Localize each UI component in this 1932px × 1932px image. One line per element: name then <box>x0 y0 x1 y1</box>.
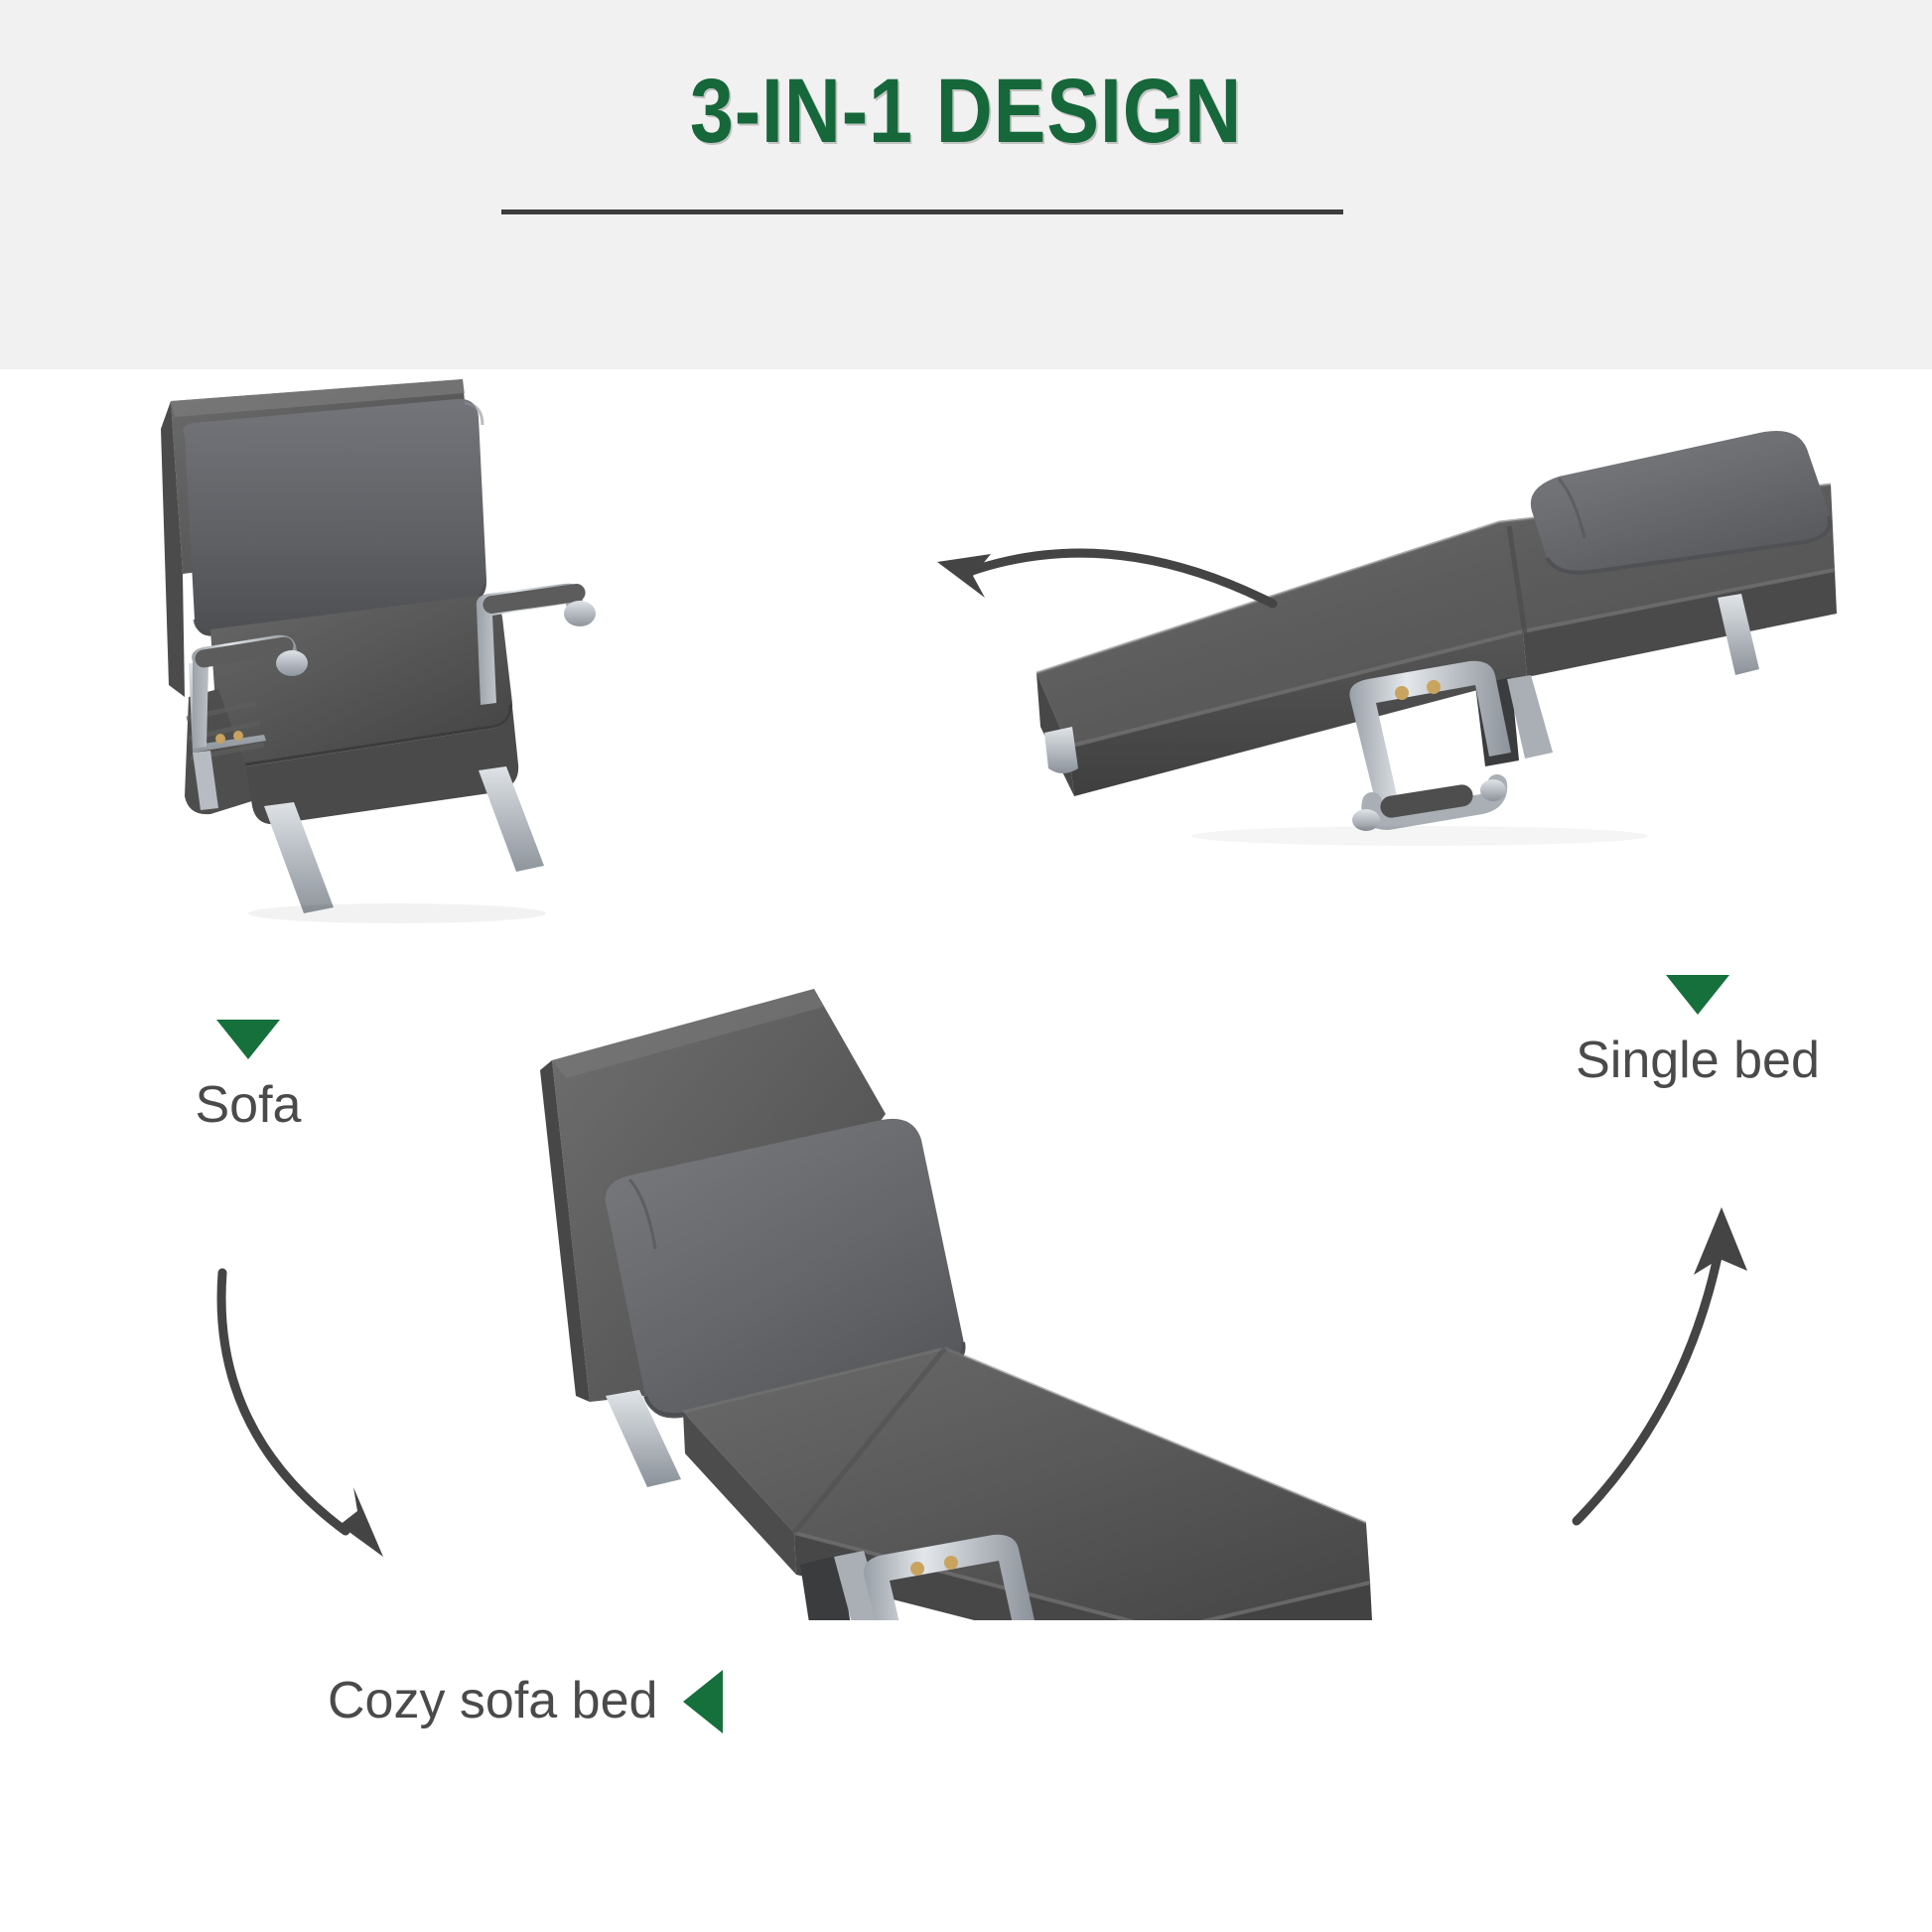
label-cozy-sofa-bed: Cozy sofa bed <box>328 1670 723 1733</box>
label-sofa: Sofa <box>99 1020 397 1134</box>
triangle-left-icon <box>683 1670 723 1733</box>
title-divider <box>501 209 1343 214</box>
illustration-stage: Sofa Single bed Cozy sofa bed <box>0 369 1932 1932</box>
bed-leg-front-left <box>1044 727 1078 773</box>
cozy-sofa-bed-svg <box>496 975 1390 1620</box>
sofa-leg-right <box>479 766 544 872</box>
sofa-chair-svg <box>149 369 705 925</box>
sofa-arm-right-cap <box>564 601 596 626</box>
sofa-chair-photo <box>149 369 705 925</box>
sofa-arm-left-cap <box>276 650 308 676</box>
page-title: 3-IN-1 DESIGN <box>135 60 1797 164</box>
triangle-down-icon <box>1666 975 1729 1015</box>
cozy-sofa-bed-photo <box>496 975 1390 1620</box>
triangle-down-icon <box>216 1020 280 1059</box>
sofa-leg-left <box>264 802 334 913</box>
label-single-bed-text: Single bed <box>1576 1033 1820 1089</box>
curved-arrow-left-icon <box>894 498 1311 677</box>
header-band: 3-IN-1 DESIGN <box>0 0 1932 369</box>
label-cozy-sofa-bed-text: Cozy sofa bed <box>328 1673 657 1729</box>
label-sofa-text: Sofa <box>196 1077 302 1134</box>
label-single-bed: Single bed <box>1499 975 1896 1089</box>
curved-arrow-down-right-icon <box>149 1243 427 1600</box>
curved-arrow-up-icon <box>1509 1193 1807 1551</box>
